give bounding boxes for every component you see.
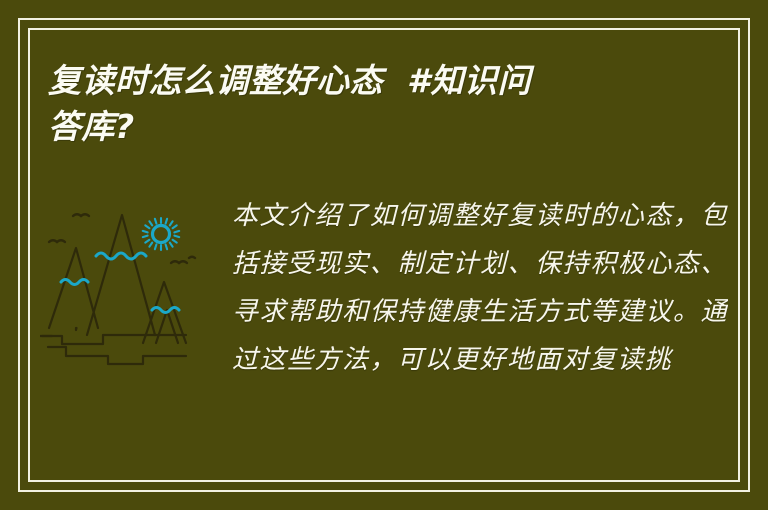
article-card: 复读时怎么调整好心态 #知识问 答库? bbox=[0, 0, 768, 510]
article-body: 本文介绍了如何调整好复读时的心态，包括接受现实、制定计划、保持积极心态、寻求帮助… bbox=[40, 192, 728, 472]
mountain-medium-path bbox=[49, 248, 98, 328]
bird-3 bbox=[171, 261, 187, 263]
noop bbox=[76, 328, 77, 330]
sun-icon bbox=[143, 218, 179, 250]
bird-4 bbox=[189, 257, 195, 258]
ground-lines bbox=[40, 335, 186, 364]
mountain-small-inner-path bbox=[156, 310, 178, 343]
mountain-large-path bbox=[87, 215, 155, 335]
page-title-line-1: 复读时怎么调整好心态 #知识问 bbox=[48, 58, 668, 104]
article-summary-text: 本文介绍了如何调整好复读时的心态，包括接受现实、制定计划、保持积极心态、寻求帮助… bbox=[232, 192, 728, 384]
mountains-sun-birds-icon bbox=[40, 200, 220, 400]
bird-2 bbox=[49, 240, 65, 242]
page-title: 复读时怎么调整好心态 #知识问 答库? bbox=[48, 58, 668, 150]
page-title-line-2: 答库? bbox=[48, 104, 668, 150]
bird-1 bbox=[73, 214, 89, 216]
snow-cap-wave-large bbox=[96, 253, 146, 259]
